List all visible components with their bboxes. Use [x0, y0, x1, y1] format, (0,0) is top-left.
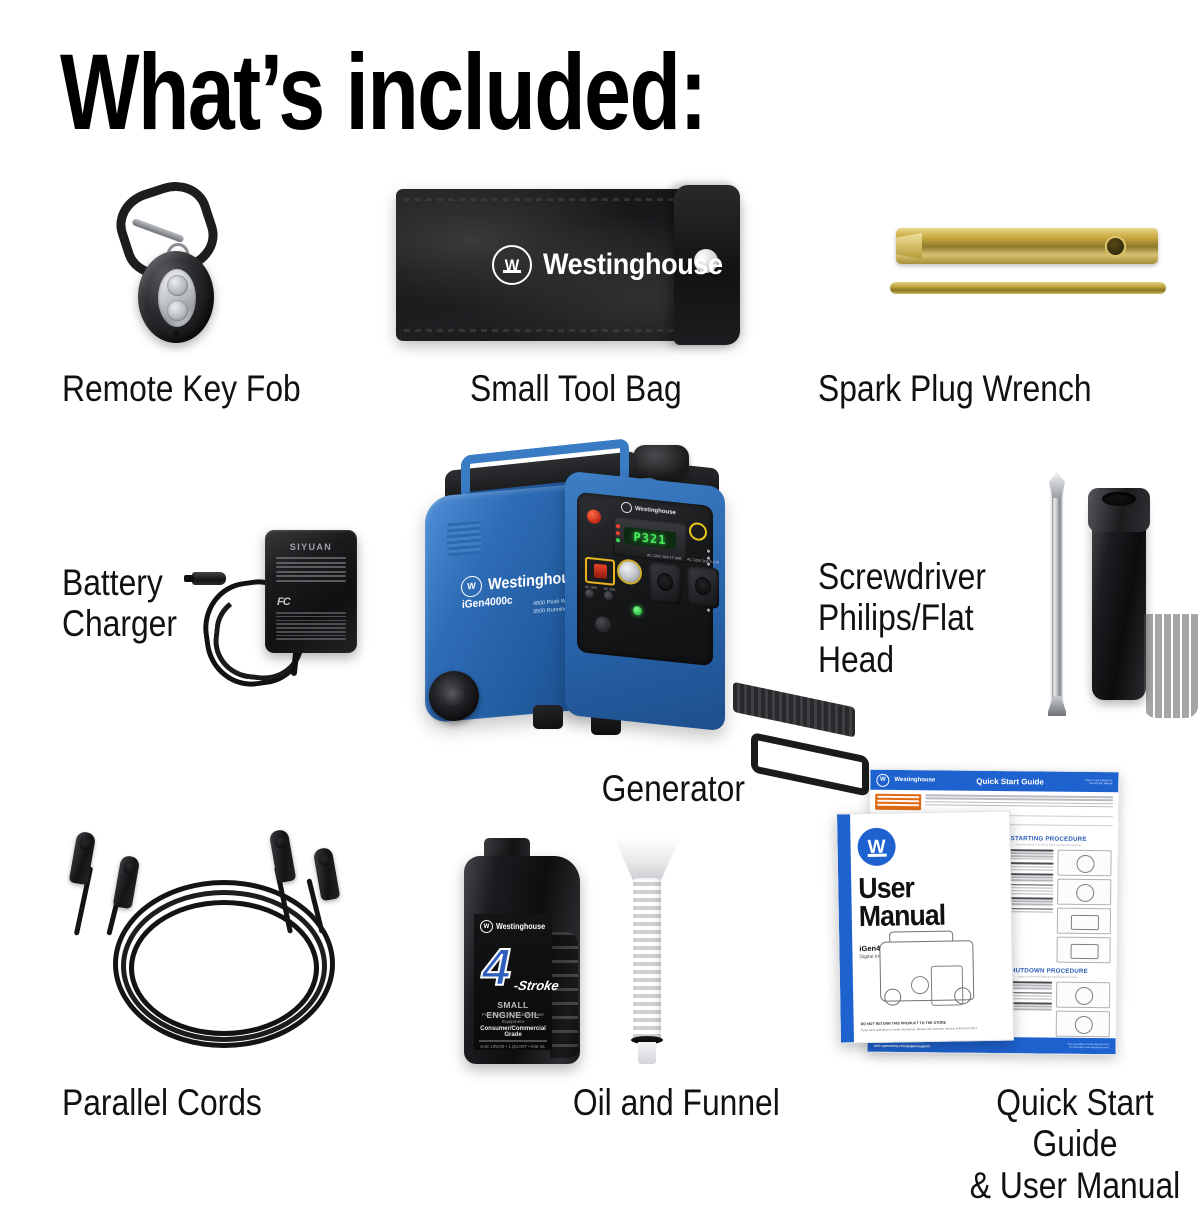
manual-spine — [837, 814, 854, 1042]
generator-exhaust-grill — [733, 682, 855, 738]
bag-brand-text: Westinghouse — [543, 248, 723, 282]
charger-brand-text: SIYUAN — [265, 542, 357, 552]
westinghouse-logo-letter: W — [467, 582, 476, 592]
tool-bag-image: W Westinghouse — [396, 189, 740, 341]
step-figure — [1056, 937, 1110, 964]
generator-wheel — [429, 671, 479, 721]
funnel-flexible-spout — [633, 878, 661, 1042]
cord-connector-3 — [269, 829, 297, 884]
label-remote-key-fob: Remote Key Fob — [62, 368, 301, 409]
funnel-image — [604, 838, 690, 1064]
generator-foot-front — [533, 705, 563, 729]
funnel-cone — [614, 838, 680, 882]
start-button[interactable] — [619, 560, 640, 583]
qsg-step-figures — [1056, 850, 1111, 964]
lcd-display: P321 — [624, 527, 676, 549]
oil-subtitle: Formulated for Outdoor Power Equipment — [479, 1012, 547, 1025]
westinghouse-logo-icon: W — [492, 245, 532, 285]
generator-fuel-cap — [633, 445, 689, 479]
westinghouse-logo-icon: W — [461, 575, 482, 598]
cord-connector-1 — [69, 831, 97, 886]
parallel-port-knob[interactable] — [595, 616, 611, 634]
bag-branding: W Westinghouse — [492, 245, 743, 285]
documents-image: W Westinghouse Quick Start Guide Scan or… — [838, 770, 1128, 1060]
key-fob-led — [174, 331, 179, 336]
charger-dc-plug — [192, 572, 226, 585]
westinghouse-logo-letter: W — [484, 924, 490, 930]
bag-seam-bottom — [404, 329, 680, 332]
illustration-wheel-right — [954, 987, 971, 1004]
battery-charger-image: SIYUAN FC — [180, 520, 410, 690]
label-battery-charger: Battery Charger — [62, 562, 177, 645]
breaker-switch-20a[interactable] — [604, 591, 613, 601]
label-parallel-cords: Parallel Cords — [62, 1082, 262, 1123]
label-screwdriver: Screwdriver Philips/Flat Head — [818, 556, 986, 680]
page-title: What’s included: — [60, 38, 706, 146]
remote-key-fob-image — [105, 185, 255, 345]
breaker-switch-30a[interactable] — [585, 589, 594, 599]
qsg-header-note: Scan or visit website for the full User … — [1085, 779, 1112, 786]
qsg-header-bar: W Westinghouse Quick Start Guide Scan or… — [870, 770, 1118, 793]
qsg-footer-note: Free assembled. Contact 855.944.3571 for… — [1068, 1042, 1110, 1049]
power-rocker-switch[interactable] — [585, 557, 615, 586]
panel-branding: Westinghouse — [621, 501, 676, 518]
generator-image: W Westinghouse iGen4000c 4800 Peak Watts… — [415, 443, 735, 763]
oil-number: 4 — [482, 942, 511, 994]
oil-bottle-image: W Westinghouse 4 -Stroke SMALL ENGINE OI… — [458, 838, 586, 1064]
status-led-group — [616, 524, 620, 545]
oil-bottle-body: W Westinghouse 4 -Stroke SMALL ENGINE OI… — [464, 856, 580, 1064]
cord-connector-2 — [113, 855, 141, 910]
oil-grade-text: Consumer/Commercial Grade — [479, 1026, 547, 1038]
manual-title: User Manual — [858, 874, 990, 932]
key-fob-button-panel — [158, 269, 196, 327]
oil-branding: W Westinghouse — [480, 920, 551, 933]
emergency-stop-button[interactable] — [587, 509, 601, 524]
outlet-right-label: AC 120V 20A 5-20R — [687, 557, 719, 564]
key-fob-lock-button — [167, 275, 188, 296]
step-figure — [1056, 982, 1110, 1009]
manual-return-note: DO NOT RETURN THIS PRODUCT TO THE STORE … — [861, 1020, 1001, 1032]
handle-socket-opening — [1102, 492, 1136, 506]
westinghouse-logo-icon: W — [480, 920, 493, 933]
oil-stroke-text: -Stroke — [513, 978, 560, 993]
breaker-switch-row: AC 30A AC 20A — [585, 585, 615, 601]
manual-generator-illustration — [873, 926, 980, 1008]
cord-connector-4 — [313, 847, 341, 902]
charger-brick: SIYUAN FC — [265, 530, 357, 653]
outlet-520r[interactable] — [687, 565, 719, 608]
outlet-tt30r[interactable] — [649, 561, 681, 604]
charger-spec-lines — [276, 557, 346, 585]
generator-front-face: Westinghouse P321 A — [565, 471, 725, 732]
panel-brand-text: Westinghouse — [635, 505, 676, 515]
westinghouse-logo-icon — [621, 501, 632, 513]
funnel-tip — [638, 1042, 656, 1064]
oil-bottle-label: W Westinghouse 4 -Stroke SMALL ENGINE OI… — [474, 914, 552, 1050]
bag-seam-top — [404, 198, 680, 201]
oil-label-divider — [479, 1040, 547, 1042]
warning-badge — [875, 794, 921, 810]
label-small-tool-bag: Small Tool Bag — [470, 368, 682, 409]
illustration-logo-circle — [911, 976, 929, 994]
parallel-cords-image — [55, 840, 355, 1060]
illustration-wheel-left — [884, 988, 901, 1005]
screwdriver-image — [1040, 478, 1160, 730]
wrench-tommy-bar — [890, 282, 1166, 294]
westinghouse-logo-letter: W — [880, 777, 886, 783]
oil-brand-text: Westinghouse — [496, 922, 545, 931]
qsg-warning-row — [875, 794, 1113, 812]
key-fob-unlock-button — [167, 300, 188, 321]
manual-note-small: If you have questions or need assistance… — [861, 1026, 1001, 1033]
user-manual-page: W User Manual iGen4000c Digital Inverter… — [836, 810, 1014, 1043]
lcd-display-value: P321 — [634, 529, 667, 546]
qsg-brand-text: Westinghouse — [894, 777, 935, 783]
generator-control-panel: Westinghouse P321 A — [577, 492, 713, 666]
westinghouse-logo-icon: W — [857, 828, 896, 867]
step-figure — [1056, 1011, 1110, 1038]
warning-text-lines — [925, 794, 1113, 812]
wrench-bar-hole — [1107, 238, 1124, 255]
generator-side-vent — [447, 520, 481, 557]
whats-included-infographic: What’s included: Remote Key Fob W Westin… — [0, 0, 1200, 1200]
handle-grip-flutes — [1144, 614, 1198, 718]
westinghouse-logo-icon: W — [876, 773, 889, 786]
step-figure — [1057, 908, 1111, 935]
qsg-step-figures — [1056, 982, 1111, 1038]
charger-fine-print — [276, 612, 346, 642]
wrench-tube — [896, 228, 1158, 264]
spark-plug-wrench-image — [890, 228, 1170, 312]
fc-mark-icon: FC — [277, 596, 290, 608]
oil-bottle-grip-ribs — [550, 932, 578, 1058]
flat-head-tip — [1048, 696, 1066, 716]
label-quick-start-guide-user-manual: Quick Start Guide & User Manual — [968, 1082, 1183, 1206]
step-figure — [1057, 879, 1111, 906]
oil-volume-text: SAE 10W30 • 1 QUART • 946 mL — [479, 1044, 547, 1049]
screwdriver-shaft — [1052, 484, 1062, 706]
label-generator: Generator — [602, 768, 745, 809]
ready-indicator-led — [633, 606, 642, 616]
key-switch[interactable] — [689, 522, 707, 542]
qsg-title: Quick Start Guide — [976, 776, 1044, 786]
step-figure — [1057, 850, 1111, 877]
key-fob-body — [138, 251, 214, 343]
label-spark-plug-wrench: Spark Plug Wrench — [818, 368, 1092, 409]
label-oil-and-funnel: Oil and Funnel — [573, 1082, 780, 1123]
